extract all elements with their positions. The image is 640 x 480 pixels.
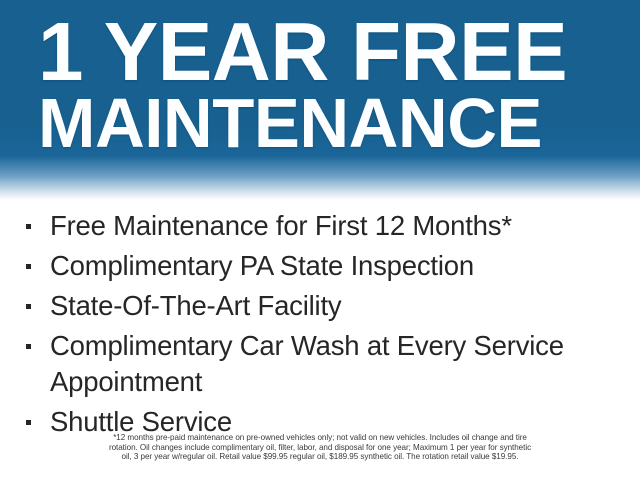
benefit-label: Complimentary PA State Inspection (50, 248, 624, 284)
banner-headline-group: 1 YEAR FREE MAINTENANCE (38, 14, 616, 156)
square-bullet-icon (26, 420, 31, 425)
list-item: Complimentary Car Wash at Every Service … (24, 328, 624, 400)
disclaimer-line-2: rotation. Oil changes include compliment… (40, 443, 600, 453)
list-item: State-Of-The-Art Facility (24, 288, 624, 324)
square-bullet-icon (26, 344, 31, 349)
headline-line-2: MAINTENANCE (38, 91, 607, 155)
headline-line-1: 1 YEAR FREE (38, 14, 607, 90)
benefit-label: Complimentary Car Wash at Every Service … (50, 328, 624, 400)
disclaimer-line-3: oil, 3 per year w/regular oil. Retail va… (40, 452, 600, 462)
benefit-label: Free Maintenance for First 12 Months* (50, 208, 624, 244)
disclaimer-text: *12 months pre-paid maintenance on pre-o… (40, 433, 600, 462)
disclaimer-line-1: *12 months pre-paid maintenance on pre-o… (40, 433, 600, 443)
square-bullet-icon (26, 224, 31, 229)
square-bullet-icon (26, 264, 31, 269)
list-item: Complimentary PA State Inspection (24, 248, 624, 284)
list-item: Free Maintenance for First 12 Months* (24, 208, 624, 244)
benefits-list: Free Maintenance for First 12 Months* Co… (24, 208, 624, 444)
promo-card: 1 YEAR FREE MAINTENANCE Free Maintenance… (0, 0, 640, 480)
benefit-label: State-Of-The-Art Facility (50, 288, 624, 324)
square-bullet-icon (26, 304, 31, 309)
header-banner: 1 YEAR FREE MAINTENANCE (0, 0, 640, 200)
